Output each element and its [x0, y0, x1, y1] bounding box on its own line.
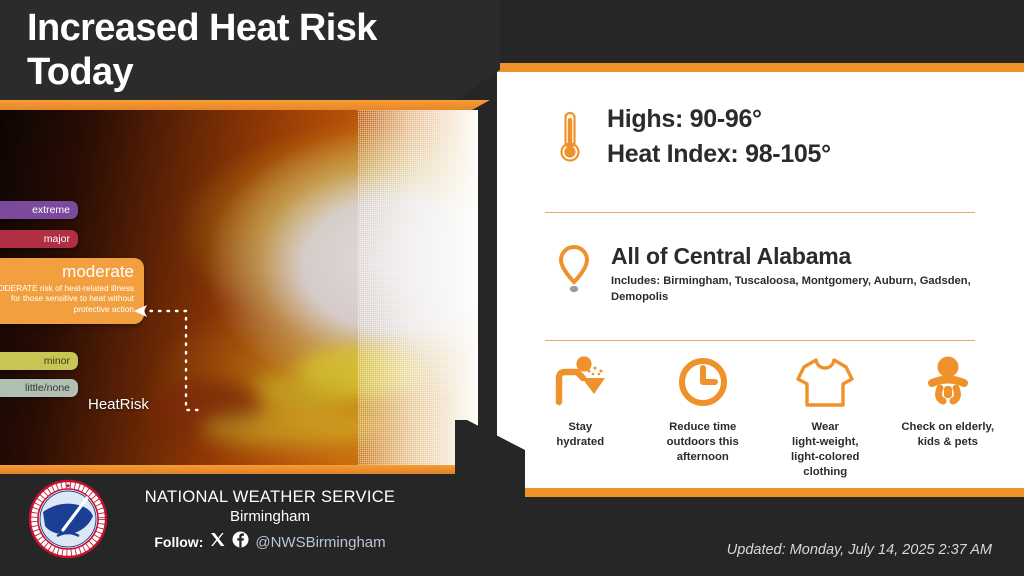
- legend-label-extreme: extreme: [32, 204, 70, 216]
- legend-label-moderate: moderate: [0, 263, 134, 283]
- legend-label-minor: minor: [44, 355, 70, 367]
- location-section: All of Central Alabama Includes: Birming…: [559, 244, 971, 305]
- temperature-section: Highs: 90-96° Heat Index: 98-105°: [557, 102, 831, 171]
- footer-agency-block: NATIONAL WEATHER SERVICE Birmingham Foll…: [120, 488, 420, 553]
- section-divider: [545, 340, 975, 341]
- page-title: Increased Heat Risk Today: [27, 6, 487, 94]
- map-bottom-accent-bar: [0, 465, 478, 474]
- facebook-icon[interactable]: [232, 531, 249, 553]
- temperature-values: Highs: 90-96° Heat Index: 98-105°: [607, 102, 831, 171]
- legend-chip-minor[interactable]: minor: [0, 352, 78, 370]
- tip-wear-light-clothing: Wear light-weight, light-colored clothin…: [766, 354, 884, 481]
- highs-value: Highs: 90-96°: [607, 102, 831, 137]
- legend-leader-line: [130, 270, 200, 415]
- tip-label: Check on elderly, kids & pets: [901, 420, 994, 450]
- tip-label: Wear light-weight, light-colored clothin…: [791, 420, 859, 481]
- legend-chip-little-none[interactable]: little/none: [0, 379, 78, 397]
- social-follow-row: Follow: @NWSBirmingham: [120, 531, 420, 553]
- location-includes: Includes: Birmingham, Tuscaloosa, Montgo…: [611, 274, 971, 305]
- baby-icon: [920, 354, 976, 410]
- updated-timestamp: Updated: Monday, July 14, 2025 2:37 AM: [727, 542, 992, 558]
- agency-name: NATIONAL WEATHER SERVICE: [120, 488, 420, 507]
- legend-label-little-none: little/none: [25, 382, 70, 394]
- legend-chip-extreme[interactable]: extreme: [0, 201, 78, 219]
- heat-index-value: Heat Index: 98-105°: [607, 137, 831, 172]
- map-heat-blotch: [200, 410, 380, 446]
- tip-label: Reduce time outdoors this afternoon: [667, 420, 739, 465]
- clock-icon: [677, 354, 729, 410]
- header-accent-bar: [0, 100, 490, 110]
- legend-chip-moderate-active[interactable]: moderate MODERATE risk of heat-related i…: [0, 258, 144, 324]
- legend-description-moderate: MODERATE risk of heat-related illness fo…: [0, 283, 134, 315]
- thermometer-icon: [557, 109, 583, 165]
- nws-seal-logo: ★: [27, 478, 109, 565]
- tip-check-on-others: Check on elderly, kids & pets: [889, 354, 1007, 450]
- tip-label: Stay hydrated: [556, 420, 604, 450]
- legend-chip-major[interactable]: major: [0, 230, 78, 248]
- tshirt-icon: [794, 354, 856, 410]
- social-handle[interactable]: @NWSBirmingham: [255, 534, 385, 551]
- info-panel: Highs: 90-96° Heat Index: 98-105° All of…: [497, 63, 1024, 497]
- tip-stay-hydrated: Stay hydrated: [521, 354, 639, 450]
- map-pin-icon: [559, 244, 589, 301]
- heatrisk-map-caption: HeatRisk: [88, 396, 149, 413]
- location-text: All of Central Alabama Includes: Birming…: [611, 244, 971, 305]
- follow-label: Follow:: [154, 534, 203, 550]
- location-title: All of Central Alabama: [611, 244, 971, 269]
- water-fountain-icon: [549, 354, 611, 410]
- office-name: Birmingham: [120, 508, 420, 525]
- legend-label-major: major: [44, 233, 70, 245]
- map-heat-blotch: [255, 372, 350, 412]
- section-divider: [545, 212, 975, 213]
- map-dither-overlay: [358, 110, 478, 465]
- x-twitter-icon[interactable]: [209, 531, 226, 553]
- safety-tips-section: Stay hydrated Reduce time outdoors this …: [519, 354, 1009, 481]
- tip-reduce-time-outdoors: Reduce time outdoors this afternoon: [644, 354, 762, 465]
